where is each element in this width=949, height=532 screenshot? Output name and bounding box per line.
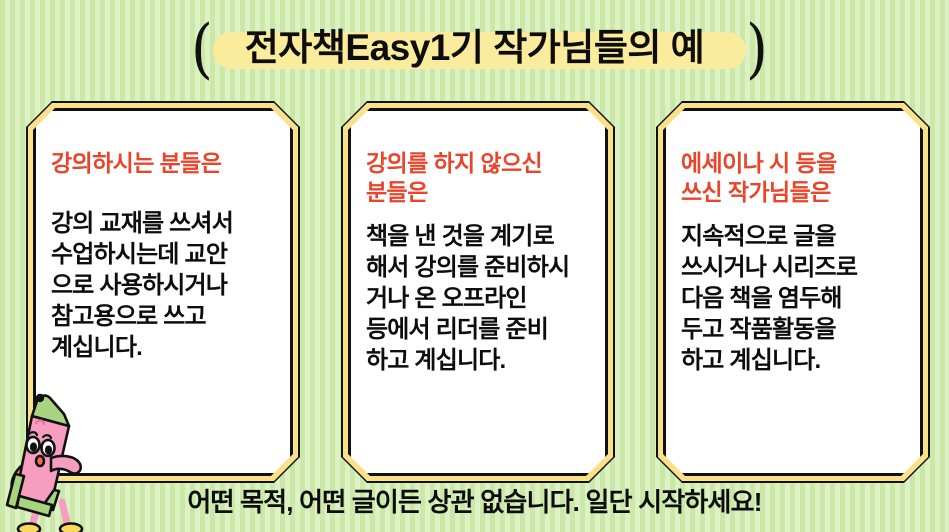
card-3-heading: 에세이나 시 등을 쓰신 작가님들은: [681, 149, 910, 207]
card-3-body: 지속적으로 글을 쓰시거나 시리즈로 다음 책을 염두해 두고 작품활동을 하고…: [681, 221, 910, 376]
card-3: 에세이나 시 등을 쓰신 작가님들은 지속적으로 글을 쓰시거나 시리즈로 다음…: [663, 108, 923, 476]
card-1-content: 강의하시는 분들은 강의 교재를 쓰셔서 수업하시는데 교안 으로 사용하시거나…: [51, 149, 280, 363]
card-1-body: 강의 교재를 쓰셔서 수업하시는데 교안 으로 사용하시거나 참고용으로 쓰고 …: [51, 208, 280, 363]
title-area: ( ) 전자책Easy1기 작가님들의 예: [0, 14, 949, 76]
card-3-content: 에세이나 시 등을 쓰신 작가님들은 지속적으로 글을 쓰시거나 시리즈로 다음…: [681, 149, 910, 376]
card-2-heading: 강의를 하지 않으신 분들은: [366, 149, 595, 207]
footer-message: 어떤 목적, 어떤 글이든 상관 없습니다. 일단 시작하세요!: [0, 486, 949, 518]
card-2: 강의를 하지 않으신 분들은 책을 낸 것을 계기로 해서 강의를 준비하시 거…: [348, 108, 608, 476]
page-title: 전자책Easy1기 작가님들의 예: [0, 26, 949, 70]
card-2-content: 강의를 하지 않으신 분들은 책을 낸 것을 계기로 해서 강의를 준비하시 거…: [366, 149, 595, 376]
slide-canvas: ( ) 전자책Easy1기 작가님들의 예 강의하시는 분들은 강의 교재를 쓰…: [0, 0, 949, 532]
card-2-body: 책을 낸 것을 계기로 해서 강의를 준비하시 거나 온 오프라인 등에서 리더…: [366, 221, 595, 376]
card-1-heading: 강의하시는 분들은: [51, 149, 280, 178]
